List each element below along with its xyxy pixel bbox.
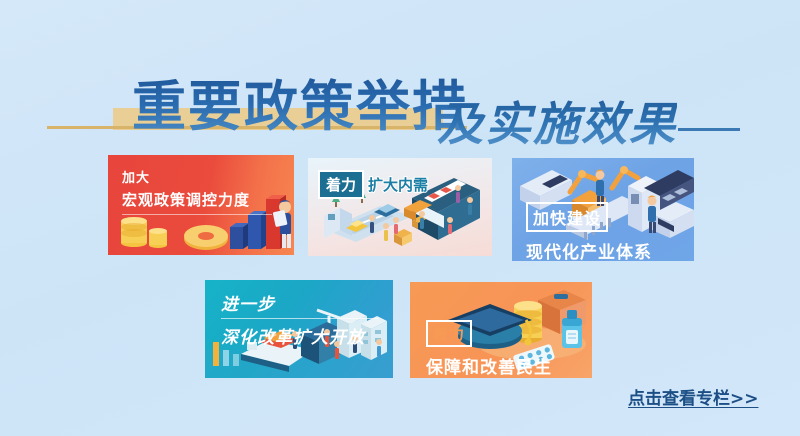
page-title: 重要政策举措 及实施效果: [0, 28, 800, 138]
view-column-link[interactable]: 点击查看专栏>>: [628, 384, 759, 409]
card-macro-policy-text: 加大 宏观政策调控力度: [122, 167, 272, 215]
banner-root: 重要政策举措 及实施效果: [0, 0, 800, 436]
card-reform-opening[interactable]: 进一步 深化改革扩大开放: [205, 280, 393, 378]
card-livelihood-text: 着力 保障和改善民生: [426, 320, 552, 378]
title-main-text: 重要政策举措: [132, 62, 468, 141]
card-domestic-demand-text: 着力 扩大内需: [318, 170, 428, 199]
card-reform-opening-line1: 进一步: [221, 290, 379, 315]
card-macro-policy-underline: [122, 214, 272, 215]
title-trailing-dash: [678, 128, 740, 131]
card-domestic-demand-line2: 扩大内需: [368, 174, 428, 195]
card-macro-policy-line1: 加大: [122, 167, 272, 186]
card-livelihood[interactable]: 着力 保障和改善民生: [410, 282, 592, 378]
title-sub-text: 及实施效果: [437, 88, 677, 154]
card-reform-opening-line2: 深化改革扩大开放: [221, 323, 379, 348]
card-domestic-demand-tag: 着力: [318, 170, 364, 199]
card-modern-industry-line2: 现代化产业体系: [526, 238, 652, 261]
card-livelihood-tag: 着力: [426, 320, 472, 347]
card-reform-opening-underline: [221, 318, 379, 319]
card-modern-industry[interactable]: 加快建设 现代化产业体系: [512, 158, 694, 261]
card-modern-industry-text: 加快建设 现代化产业体系: [526, 202, 652, 261]
card-livelihood-line2: 保障和改善民生: [426, 353, 552, 378]
card-reform-opening-text: 进一步 深化改革扩大开放: [221, 290, 379, 348]
card-modern-industry-line1: 加快建设: [526, 202, 608, 232]
card-macro-policy-line2: 宏观政策调控力度: [122, 189, 272, 210]
card-domestic-demand[interactable]: 着力 扩大内需: [308, 158, 492, 256]
card-macro-policy[interactable]: 加大 宏观政策调控力度: [108, 155, 294, 255]
